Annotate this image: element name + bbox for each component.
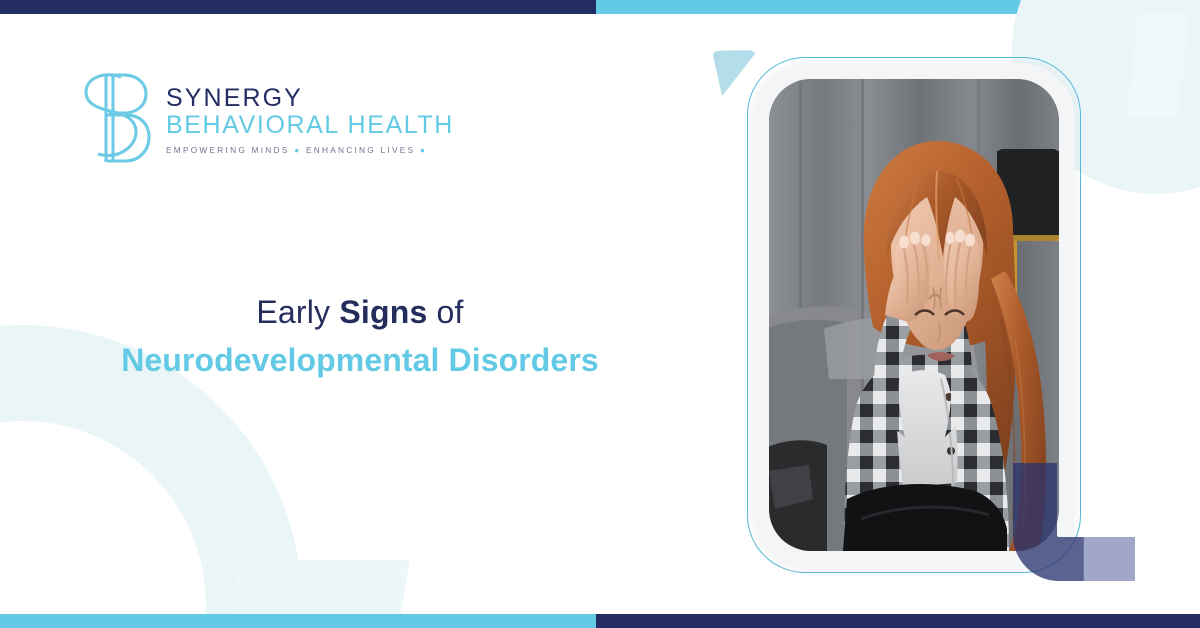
pale-band-bottom-decoration bbox=[230, 560, 410, 616]
brand-name-primary: SYNERGY bbox=[166, 85, 454, 112]
banner-canvas: SYNERGY BEHAVIORAL HEALTH EMPOWERING MIN… bbox=[0, 0, 1200, 628]
brand-logo[interactable]: SYNERGY BEHAVIORAL HEALTH EMPOWERING MIN… bbox=[76, 68, 454, 168]
headline-prefix: Early bbox=[256, 294, 339, 330]
brand-tagline: EMPOWERING MINDS ● ENHANCING LIVES ● bbox=[166, 145, 454, 155]
tagline-separator-2: ● bbox=[415, 145, 427, 155]
headline-line-2: Neurodevelopmental Disorders bbox=[60, 340, 660, 382]
headline-line-1: Early Signs of bbox=[60, 292, 660, 334]
sb-monogram-icon bbox=[76, 68, 152, 168]
tagline-part-1: EMPOWERING MINDS bbox=[166, 145, 290, 155]
brand-logo-text: SYNERGY BEHAVIORAL HEALTH EMPOWERING MIN… bbox=[166, 81, 454, 156]
bottom-bar-light-blue bbox=[0, 614, 596, 628]
tagline-part-2: ENHANCING LIVES bbox=[306, 145, 415, 155]
light-blue-triangle-decoration bbox=[712, 50, 758, 96]
headline-block: Early Signs of Neurodevelopmental Disord… bbox=[60, 292, 660, 381]
tagline-separator-1: ● bbox=[290, 145, 306, 155]
headline-suffix: of bbox=[427, 294, 463, 330]
bottom-bar-navy bbox=[596, 614, 1200, 628]
brand-name-secondary: BEHAVIORAL HEALTH bbox=[166, 111, 454, 139]
headline-emphasis: Signs bbox=[339, 294, 427, 330]
top-bar-navy bbox=[0, 0, 596, 14]
